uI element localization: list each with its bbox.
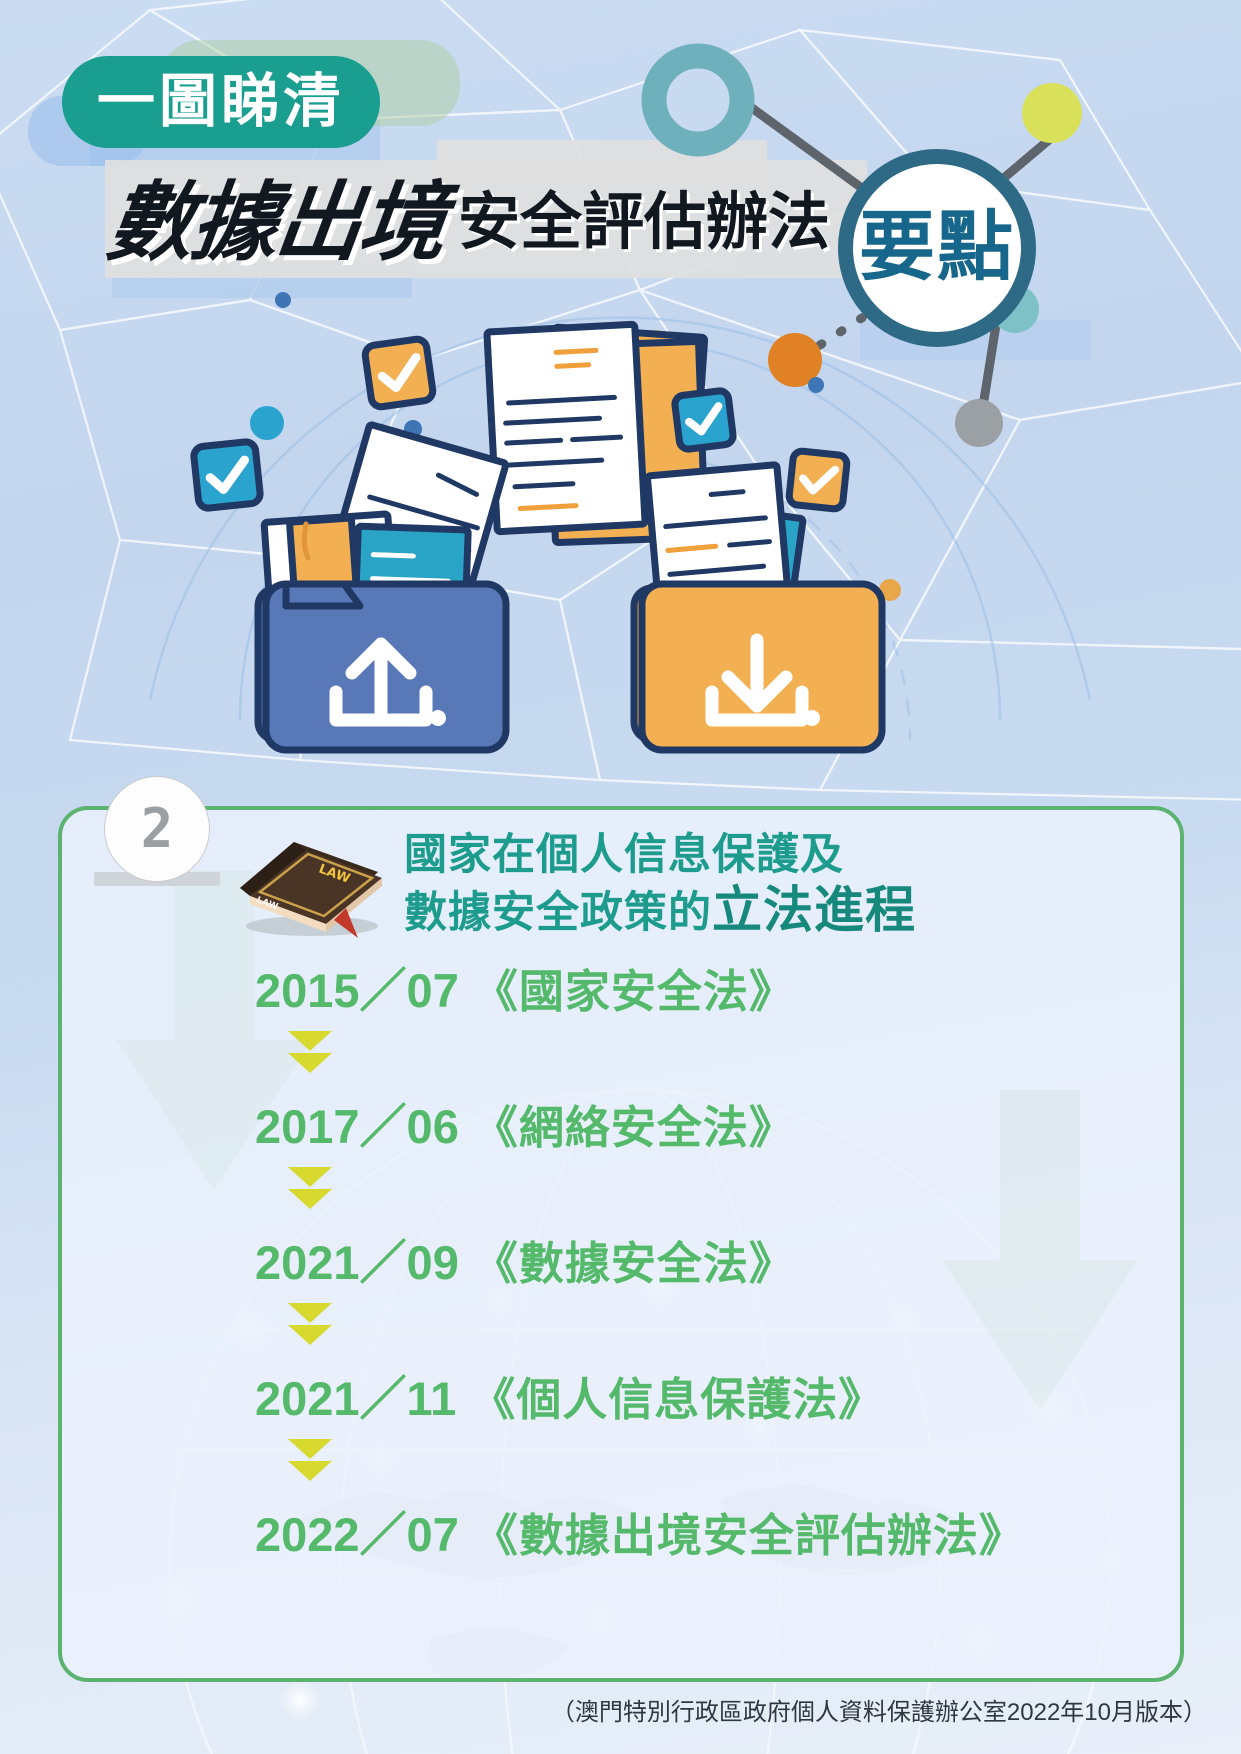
timeline-item: 2021／09 《數據安全法》 bbox=[255, 1224, 1155, 1288]
timeline-chevron-icon bbox=[255, 1424, 365, 1496]
left-tilted-document bbox=[316, 424, 507, 652]
timeline-law-name: 《個人信息保護法》 bbox=[470, 1363, 884, 1428]
left-teal-document bbox=[354, 526, 468, 660]
one-image-badge: 一圖睇清 bbox=[62, 56, 380, 148]
timeline-law-name: 《國家安全法》 bbox=[473, 955, 795, 1020]
timeline-law-name: 《數據出境安全評估辦法》 bbox=[473, 1499, 1025, 1564]
timeline-law-name: 《網絡安全法》 bbox=[473, 1091, 795, 1156]
center-document-stack bbox=[487, 324, 706, 542]
timeline-law-name: 《數據安全法》 bbox=[473, 1227, 795, 1292]
check-badge-teal-icon-right bbox=[674, 390, 734, 450]
timeline-chevron-icon bbox=[255, 1016, 365, 1088]
check-badge-orange-icon bbox=[364, 338, 434, 408]
magnifier-label: 要點 bbox=[859, 210, 1015, 286]
timeline-date: 2015／07 bbox=[255, 952, 459, 1021]
timeline-date: 2021／09 bbox=[255, 1224, 459, 1293]
download-folder-icon bbox=[634, 584, 882, 750]
timeline-date: 2022／07 bbox=[255, 1496, 459, 1565]
section-heading: 國家在個人信息保護及 數據安全政策的立法進程 bbox=[404, 830, 916, 940]
page-title-sub: 安全評估辦法 bbox=[458, 192, 830, 254]
left-clipped-document bbox=[264, 514, 396, 640]
timeline-item: 2015／07 《國家安全法》 bbox=[255, 952, 1155, 1016]
page-title-main: 數據出境 bbox=[103, 180, 450, 266]
timeline-date: 2021／11 bbox=[255, 1360, 456, 1429]
timeline-date: 2017／06 bbox=[255, 1088, 459, 1157]
section-heading-line2-strong: 立法進程 bbox=[712, 882, 916, 938]
section-heading-line-1: 國家在個人信息保護及 bbox=[404, 830, 916, 881]
check-badge-teal-icon-left bbox=[193, 441, 261, 509]
legislation-timeline: 2015／07 《國家安全法》 2017／06 《網絡安全法》 2021／09 … bbox=[255, 952, 1155, 1560]
timeline-item: 2021／11 《個人信息保護法》 bbox=[255, 1360, 1155, 1424]
right-document-stack bbox=[647, 465, 803, 636]
timeline-item: 2022／07 《數據出境安全評估辦法》 bbox=[255, 1496, 1155, 1560]
law-book-icon: LAW LAW bbox=[234, 828, 384, 938]
timeline-chevron-icon bbox=[255, 1152, 365, 1224]
timeline-item: 2017／06 《網絡安全法》 bbox=[255, 1088, 1155, 1152]
section-number-badge: 2 bbox=[104, 776, 210, 882]
magnifier-icon: 要點 bbox=[838, 149, 1036, 347]
one-image-badge-label: 一圖睇清 bbox=[97, 73, 345, 131]
section-heading-line-2: 數據安全政策的立法進程 bbox=[404, 881, 916, 940]
timeline-chevron-icon bbox=[255, 1288, 365, 1360]
section-heading-line1-text: 國家在個人信息保護及 bbox=[404, 831, 844, 879]
section-number: 2 bbox=[141, 802, 174, 856]
footer-note: （澳門特別行政區政府個人資料保護辦公室2022年10月版本） bbox=[0, 1692, 1241, 1727]
check-badge-orange-icon-right bbox=[788, 450, 847, 509]
upload-folder-icon bbox=[258, 584, 506, 750]
infographic-poster: 一圖睇清 數據出境 安全評估辦法 要點 bbox=[0, 0, 1241, 1754]
section-heading-line2-prefix: 數據安全政策的 bbox=[404, 889, 712, 937]
